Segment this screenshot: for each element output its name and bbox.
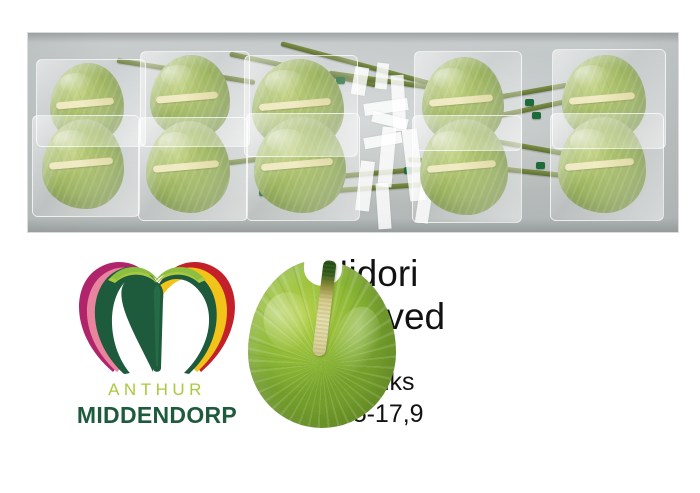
photo-panel (0, 0, 700, 240)
logo-heart-m-icon (67, 252, 247, 377)
packed-anthurium-bloom (558, 117, 646, 213)
stem-clip (536, 162, 545, 169)
packed-anthurium-bloom (146, 121, 230, 213)
box-edge-bottom (28, 218, 678, 232)
logo-text-middendorp: MIDDENDORP (62, 402, 252, 429)
anthur-middendorp-logo: ANTHUR MIDDENDORP (62, 252, 252, 437)
logo-text-anthur: ANTHUR (62, 380, 252, 400)
green-anthurium-bloom-illustration (248, 252, 398, 432)
spathe-highlight (267, 129, 306, 154)
product-label-page: ANTHUR MIDDENDORP Midori Improved 10 stu… (0, 0, 700, 493)
packed-anthurium-bloom (420, 119, 508, 215)
packed-anthurium-bloom (42, 119, 124, 209)
stem-clip (532, 112, 541, 119)
spathe-highlight (53, 130, 87, 153)
spathe-highlight (574, 65, 609, 87)
stem-clip (525, 99, 534, 106)
spathe-highlight (265, 70, 304, 94)
packed-anthurium-bloom (254, 117, 346, 213)
packed-flowers-photo (28, 33, 678, 232)
label-info-band: ANTHUR MIDDENDORP Midori Improved 10 stu… (0, 240, 700, 493)
spathe-highlight (158, 132, 193, 156)
spathe-highlight (433, 68, 467, 91)
box-edge-top (28, 33, 678, 43)
spathe-highlight (161, 65, 195, 87)
